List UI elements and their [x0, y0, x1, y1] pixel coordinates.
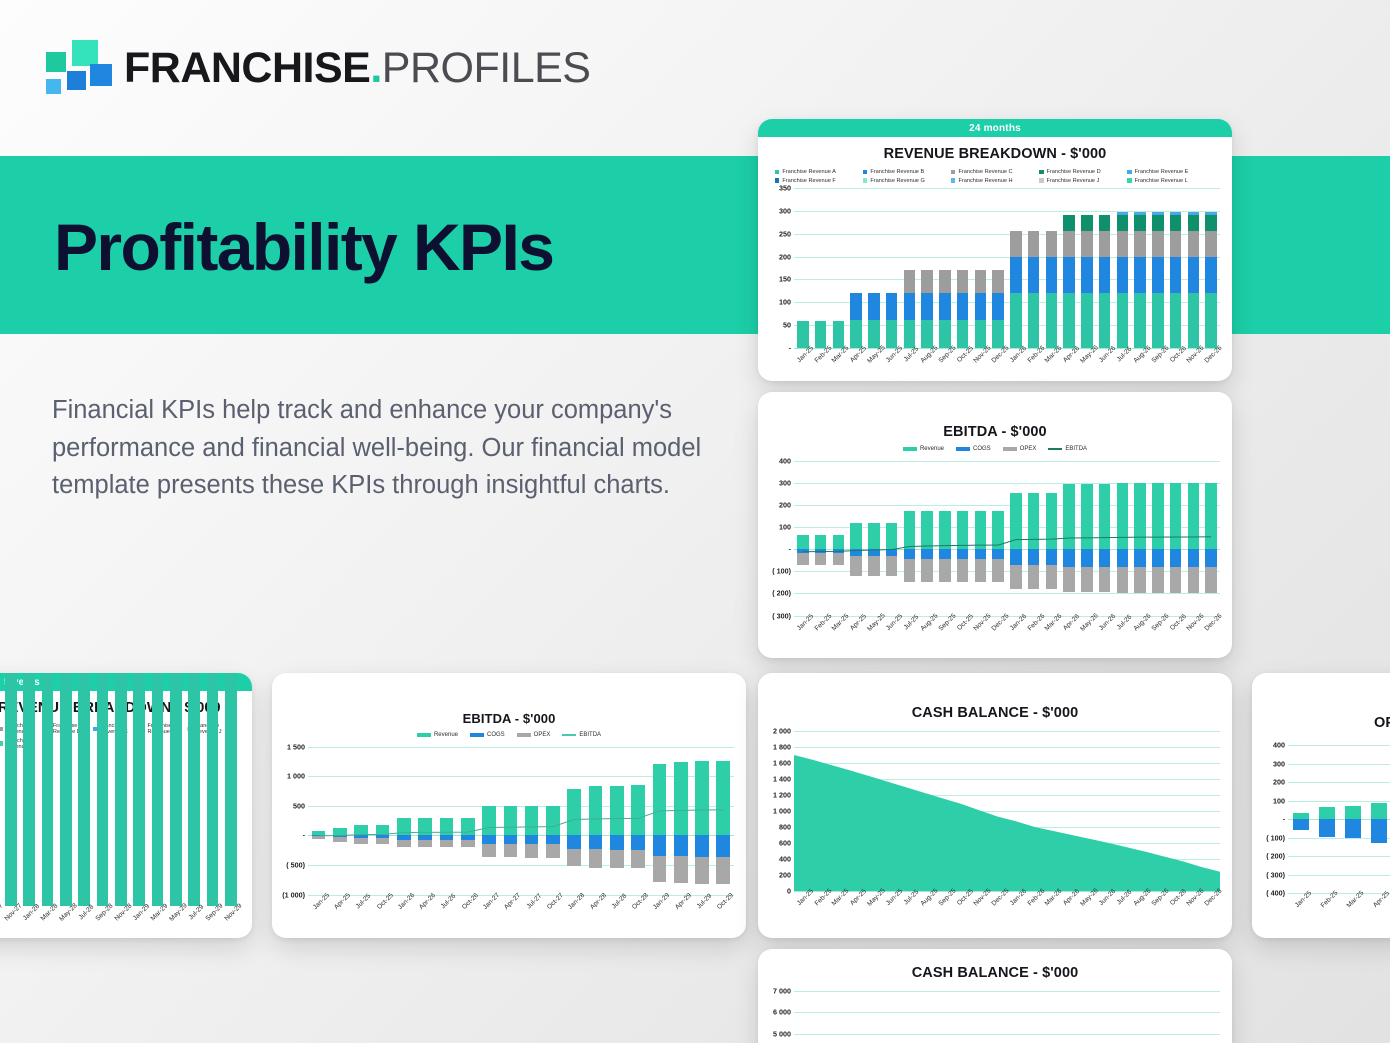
bar-segment — [1345, 806, 1362, 819]
x-axis-slot: May-28 — [57, 908, 75, 938]
logo-square-teal — [72, 40, 98, 66]
plot-grid — [794, 188, 1220, 348]
y-axis-tick: ( 200) — [772, 589, 791, 598]
bar-segment — [1134, 293, 1145, 348]
legend-swatch — [1039, 178, 1044, 183]
legend-swatch — [1127, 170, 1132, 175]
cash-area — [794, 731, 1220, 891]
bar-series — [794, 188, 1220, 348]
bar-stack-positive — [1345, 806, 1362, 819]
intro-paragraph: Financial KPIs help track and enhance yo… — [52, 392, 712, 505]
y-axis-tick: 600 — [779, 839, 791, 848]
x-axis-slot: Nov-25 — [972, 350, 990, 381]
bar-segment — [1188, 231, 1199, 256]
x-axis-slot: Jun-25 — [883, 618, 901, 652]
bar-segment — [1152, 293, 1163, 348]
y-axis: 2 0001 8001 6001 4001 2001 0008006004002… — [764, 731, 794, 891]
legend-swatch — [562, 734, 576, 736]
y-axis-tick: 800 — [779, 823, 791, 832]
bar-segment — [1188, 215, 1199, 231]
bar-segment — [1170, 293, 1181, 348]
legend-label: Franchise Revenue H — [958, 178, 1012, 184]
ebitda-line — [308, 747, 734, 895]
bar-stack-negative — [1293, 819, 1310, 830]
legend-item: EBITDA — [562, 732, 601, 738]
x-axis-slot: Jul-25 — [901, 350, 919, 381]
x-axis-slot: Jun-26 — [1096, 618, 1114, 652]
bar-group — [865, 188, 883, 348]
y-axis-tick: 350 — [779, 184, 791, 193]
bar-segment — [921, 270, 932, 293]
x-axis-slot: Oct-26 — [1167, 893, 1185, 927]
legend-label: Revenue — [434, 732, 458, 738]
x-axis-slot: Apr-27 — [500, 897, 521, 931]
bar-segment — [975, 320, 986, 348]
bar-group — [1366, 745, 1390, 893]
x-axis-slot: Jan-25 — [1288, 895, 1314, 929]
bar-stack-positive — [115, 673, 127, 906]
legend-swatch — [1127, 178, 1132, 183]
chart-title: OPE — [1374, 715, 1390, 731]
legend-item: EBITDA — [1048, 446, 1087, 452]
bar-segment — [1081, 231, 1092, 256]
x-axis-slot: Jan-25 — [794, 618, 812, 652]
x-axis-slot: Apr-25 — [847, 618, 865, 652]
bar-stack-positive — [850, 293, 861, 348]
legend-item: Franchise Revenue H — [951, 178, 1039, 184]
x-axis-slot: Jul-27 — [521, 897, 542, 931]
x-axis-slot: Dec-25 — [989, 893, 1007, 927]
x-axis-slot: Dec-25 — [989, 618, 1007, 652]
bar-group — [222, 756, 240, 906]
bar-segment — [1319, 807, 1336, 819]
y-axis-tick: 200 — [779, 252, 791, 261]
bar-segment — [170, 673, 182, 906]
bar-stack-positive — [1371, 803, 1388, 819]
chart-plot-area: 2 0001 8001 6001 4001 2001 0008006004002… — [764, 731, 1226, 891]
chart-card-revenue-5y[interactable]: 5 years REVENUE BREAKDOWN - $'000 Franch… — [0, 673, 252, 938]
legend-swatch — [863, 170, 868, 175]
bar-group — [20, 756, 38, 906]
bar-group — [167, 756, 185, 906]
x-axis-slot: Apr-29 — [670, 897, 691, 931]
y-axis-tick: ( 100) — [772, 567, 791, 576]
x-axis-slot: Mar-25 — [1340, 895, 1366, 929]
legend-label: Franchise Revenue E — [1135, 169, 1189, 175]
y-axis-tick: ( 300) — [772, 611, 791, 620]
bar-segment — [1319, 819, 1336, 837]
bar-group — [1202, 188, 1220, 348]
bar-stack-positive — [1319, 807, 1336, 819]
bar-stack-positive — [133, 673, 145, 906]
y-axis-tick: ( 400) — [1266, 889, 1285, 898]
chart-plot-area: Jan-27Mar-27May-27Jul-27Sep-27Nov-27Jan-… — [0, 756, 246, 906]
legend-label: Franchise Revenue B — [870, 169, 924, 175]
x-axis-slot: Apr-26 — [1060, 350, 1078, 381]
bar-stack-positive — [60, 673, 72, 906]
y-axis-tick: 2 000 — [773, 727, 791, 736]
bar-segment — [1081, 257, 1092, 294]
y-axis-tick: 300 — [1273, 759, 1285, 768]
bar-segment — [1081, 293, 1092, 348]
bar-stack-positive — [833, 321, 844, 348]
bar-segment — [1371, 803, 1388, 819]
bar-group — [1025, 188, 1043, 348]
bar-segment — [5, 673, 17, 906]
x-axis-slot: May-25 — [865, 618, 883, 652]
bar-stack-positive — [815, 321, 826, 348]
bar-segment — [975, 293, 986, 320]
y-axis-tick: 250 — [779, 229, 791, 238]
chart-card-ebitda-24m[interactable]: EBITDA - $'000 RevenueCOGSOPEXEBITDA 400… — [758, 392, 1232, 658]
x-axis-slot: Mar-29 — [148, 908, 166, 938]
x-axis-slot: Jul-26 — [436, 897, 457, 931]
bar-group — [130, 756, 148, 906]
bar-segment — [868, 293, 879, 320]
x-axis: Jan-25Feb-25Mar-25Apr-25May-25Jun-25Jul-… — [1288, 895, 1390, 929]
x-axis-slot: Aug-26 — [1131, 618, 1149, 652]
bar-stack-positive — [170, 673, 182, 906]
bar-segment — [957, 293, 968, 320]
bar-group — [203, 756, 221, 906]
legend-swatch — [1039, 170, 1044, 175]
x-axis-slot: Jul-29 — [691, 897, 712, 931]
x-axis-slot: Nov-27 — [2, 908, 20, 938]
chart-legend: RevenueCOGSOPEXEBITDA — [758, 446, 1232, 455]
plot-grid — [308, 747, 734, 895]
plot-grid — [0, 756, 240, 906]
plot-grid — [794, 731, 1220, 891]
x-axis-slot: Feb-26 — [1025, 618, 1043, 652]
bar-group — [1060, 188, 1078, 348]
bar-group — [93, 756, 111, 906]
x-axis-slot: Apr-26 — [1060, 618, 1078, 652]
bar-segment — [1099, 231, 1110, 256]
bar-stack-negative — [1345, 819, 1362, 838]
bar-stack-positive — [1028, 231, 1039, 348]
bar-stack-positive — [904, 270, 915, 348]
bar-group — [830, 188, 848, 348]
bar-series — [1288, 745, 1390, 893]
bar-stack-positive — [975, 270, 986, 348]
bar-segment — [1117, 231, 1128, 256]
x-axis-slot: Oct-26 — [1167, 350, 1185, 381]
bar-segment — [23, 673, 35, 906]
logo-square-blue-small — [67, 71, 86, 90]
x-axis-slot: Jul-25 — [901, 618, 919, 652]
x-axis: Jan-25Feb-25Mar-25Apr-25May-25Jun-25Jul-… — [794, 618, 1220, 652]
bar-stack-positive — [78, 673, 90, 906]
bar-group — [1340, 745, 1366, 893]
y-axis-tick: 200 — [1273, 778, 1285, 787]
x-axis-slot: Oct-29 — [713, 897, 734, 931]
logo-text-profiles: PROFILES — [382, 44, 591, 92]
x-axis-slot: Sep-26 — [1149, 350, 1167, 381]
x-axis-slot: Aug-25 — [918, 350, 936, 381]
legend-label: COGS — [487, 732, 505, 738]
y-axis-tick: 200 — [779, 871, 791, 880]
bar-group — [2, 756, 20, 906]
x-axis-slot: Jun-26 — [1096, 350, 1114, 381]
x-axis-slot: Nov-28 — [112, 908, 130, 938]
y-axis-tick: 500 — [293, 801, 305, 810]
legend-label: EBITDA — [579, 732, 601, 738]
x-axis-slot: Aug-25 — [918, 893, 936, 927]
bar-group — [989, 188, 1007, 348]
y-axis-tick: - — [789, 344, 791, 353]
legend-swatch — [517, 733, 531, 737]
bar-segment — [115, 673, 127, 906]
bar-segment — [1205, 257, 1216, 294]
chart-card-cash-5y[interactable]: CASH BALANCE - $'000 7 0006 0005 000 — [758, 949, 1232, 1043]
x-axis-slot: Aug-25 — [918, 618, 936, 652]
bar-group — [1131, 188, 1149, 348]
bar-segment — [78, 673, 90, 906]
bar-segment — [957, 270, 968, 293]
x-axis-slot: May-25 — [865, 350, 883, 381]
legend-label: Revenue — [920, 446, 944, 452]
bar-segment — [868, 320, 879, 348]
x-axis-slot: Oct-25 — [954, 350, 972, 381]
bar-segment — [1010, 293, 1021, 348]
bar-segment — [1010, 257, 1021, 294]
x-axis-slot: Feb-25 — [812, 350, 830, 381]
x-axis-slot: Apr-28 — [585, 897, 606, 931]
x-axis-slot: Sep-25 — [936, 618, 954, 652]
bar-group — [1149, 188, 1167, 348]
x-axis-slot: Apr-26 — [1060, 893, 1078, 927]
x-axis-slot: Jul-26 — [1114, 618, 1132, 652]
chart-title: EBITDA - $'000 — [758, 424, 1232, 440]
x-axis-slot: Jul-25 — [901, 893, 919, 927]
x-axis-slot: Apr-25 — [329, 897, 350, 931]
x-axis-slot: May-25 — [865, 893, 883, 927]
bar-group — [112, 756, 130, 906]
bar-segment — [133, 673, 145, 906]
bar-group — [1167, 188, 1185, 348]
x-axis-slot: May-26 — [1078, 893, 1096, 927]
x-axis-slot: Mar-25 — [830, 893, 848, 927]
x-axis-slot: Jan-28 — [20, 908, 38, 938]
x-axis-slot: Jan-26 — [1007, 618, 1025, 652]
legend-label: Franchise Revenue J — [1047, 178, 1100, 184]
x-axis-slot: Dec-26 — [1202, 618, 1220, 652]
y-axis-tick: 1 200 — [773, 791, 791, 800]
y-axis-tick: 1 000 — [773, 807, 791, 816]
bar-segment — [1063, 257, 1074, 294]
x-axis-slot: Mar-25 — [830, 350, 848, 381]
logo-square-lightblue — [46, 79, 61, 94]
plot-grid — [1288, 745, 1390, 893]
bar-stack-positive — [152, 673, 164, 906]
y-axis-tick: - — [303, 831, 305, 840]
bar-segment — [904, 320, 915, 348]
y-axis-tick: - — [789, 545, 791, 554]
legend-swatch — [470, 733, 484, 737]
bar-stack-positive — [939, 270, 950, 348]
x-axis: Jan-25Feb-25Mar-25Apr-25May-25Jun-25Jul-… — [794, 893, 1220, 927]
x-axis-slot: Oct-26 — [1167, 618, 1185, 652]
x-axis-slot: Jul-29 — [185, 908, 203, 938]
plot-grid — [794, 461, 1220, 616]
bar-segment — [1028, 293, 1039, 348]
x-axis-slot: Jan-26 — [1007, 893, 1025, 927]
y-axis: 400300200100-( 100)( 200)( 300) — [764, 461, 794, 616]
y-axis: 35030025020015010050- — [764, 188, 794, 348]
bar-segment — [1205, 215, 1216, 231]
chart-card-opex[interactable]: OPE 400300200100-( 100)( 200)( 300)( 400… — [1252, 673, 1390, 938]
y-axis-tick: 300 — [779, 478, 791, 487]
x-axis-slot: Oct-25 — [954, 618, 972, 652]
y-axis-tick: 100 — [1273, 796, 1285, 805]
bar-segment — [1152, 231, 1163, 256]
bar-stack-positive — [1205, 212, 1216, 348]
legend-item: Franchise Revenue E — [1127, 169, 1215, 175]
bar-stack-positive — [207, 673, 219, 906]
bar-group — [883, 188, 901, 348]
bar-segment — [992, 293, 1003, 320]
bar-segment — [1134, 215, 1145, 231]
bar-segment — [42, 673, 54, 906]
legend-swatch — [903, 447, 917, 451]
bar-group — [1288, 745, 1314, 893]
x-axis-slot: Jan-25 — [794, 350, 812, 381]
bar-stack-positive — [1046, 231, 1057, 348]
y-axis-tick: 0 — [787, 887, 791, 896]
x-axis-slot: Jan-26 — [1007, 350, 1025, 381]
x-axis-slot: Apr-26 — [414, 897, 435, 931]
chart-card-cash-24m[interactable]: CASH BALANCE - $'000 2 0001 8001 6001 40… — [758, 673, 1232, 938]
x-axis-slot: May-26 — [1078, 618, 1096, 652]
x-axis-slot: Sep-25 — [936, 350, 954, 381]
bar-stack-positive — [23, 673, 35, 906]
x-axis-slot: Mar-26 — [1043, 618, 1061, 652]
brand-logo: FRANCHISE.PROFILES — [46, 40, 590, 96]
bar-segment — [1345, 819, 1362, 838]
bar-segment — [1099, 215, 1110, 231]
bar-stack-positive — [1188, 212, 1199, 348]
x-axis-slot: Nov-25 — [972, 618, 990, 652]
bar-stack-positive — [1081, 215, 1092, 348]
y-axis-tick: ( 300) — [1266, 870, 1285, 879]
y-axis-tick: 7 000 — [773, 987, 791, 996]
logo-square-blue — [90, 64, 112, 86]
x-axis-slot: Jul-25 — [351, 897, 372, 931]
chart-plot-area: 1 5001 000500-( 500)(1 000)Jan-25Apr-25J… — [278, 747, 740, 895]
chart-card-revenue-24m[interactable]: 24 months REVENUE BREAKDOWN - $'000 Fran… — [758, 119, 1232, 381]
legend-item: OPEX — [517, 732, 551, 738]
legend-item: Franchise Revenue G — [863, 178, 951, 184]
x-axis-slot: Jan-29 — [649, 897, 670, 931]
bar-group — [1078, 188, 1096, 348]
y-axis-tick: 1 500 — [287, 742, 305, 751]
x-axis-slot: Mar-28 — [38, 908, 56, 938]
bar-segment — [992, 270, 1003, 293]
bar-segment — [1170, 231, 1181, 256]
legend-item: Franchise Revenue L — [1127, 178, 1215, 184]
x-axis-slot: Dec-26 — [1202, 350, 1220, 381]
x-axis-slot: Nov-26 — [1185, 618, 1203, 652]
bar-segment — [815, 321, 826, 348]
x-axis-slot: Jan-29 — [130, 908, 148, 938]
bar-group — [918, 188, 936, 348]
x-axis-slot: Feb-26 — [1025, 350, 1043, 381]
legend-item: Revenue — [417, 732, 458, 738]
legend-label: OPEX — [534, 732, 551, 738]
bar-segment — [1170, 215, 1181, 231]
logo-text-franchise: FRANCHISE — [124, 44, 370, 92]
bar-stack-positive — [1099, 215, 1110, 348]
bar-segment — [60, 673, 72, 906]
bar-stack-positive — [1152, 212, 1163, 348]
x-axis-slot: Jun-25 — [883, 350, 901, 381]
x-axis-slot: Jul-28 — [606, 897, 627, 931]
legend-item: OPEX — [1003, 446, 1037, 452]
logo-text-dot: . — [370, 44, 381, 92]
x-axis-slot: Jul-26 — [1114, 350, 1132, 381]
chart-card-ebitda-5y[interactable]: EBITDA - $'000 RevenueCOGSOPEXEBITDA 1 5… — [272, 673, 746, 938]
bar-stack-positive — [42, 673, 54, 906]
bar-stack-positive — [1117, 212, 1128, 348]
x-axis-slot: Apr-25 — [1366, 895, 1390, 929]
legend-item: Revenue — [903, 446, 944, 452]
legend-item: Franchise Revenue J — [1039, 178, 1127, 184]
bar-segment — [850, 293, 861, 320]
x-axis-slot: Nov-29 — [222, 908, 240, 938]
legend-swatch — [0, 727, 3, 732]
x-axis-slot: Sep-26 — [1149, 618, 1167, 652]
gridline — [794, 1012, 1220, 1013]
bar-group — [75, 756, 93, 906]
bar-stack-positive — [1010, 231, 1021, 348]
legend-item: COGS — [470, 732, 505, 738]
y-axis-tick: 1 800 — [773, 743, 791, 752]
legend-swatch — [863, 178, 868, 183]
bar-segment — [1152, 257, 1163, 294]
bar-segment — [957, 320, 968, 348]
bar-segment — [97, 673, 109, 906]
logo-wordmark: FRANCHISE.PROFILES — [124, 47, 590, 90]
legend-label: OPEX — [1020, 446, 1037, 452]
x-axis-slot: Nov-26 — [1185, 350, 1203, 381]
bar-group — [38, 756, 56, 906]
x-axis-slot: Sep-26 — [1149, 893, 1167, 927]
y-axis-tick: 400 — [779, 456, 791, 465]
ebitda-line — [794, 461, 1220, 616]
x-axis-slot: May-29 — [167, 908, 185, 938]
x-axis-slot: Jan-25 — [794, 893, 812, 927]
x-axis: Jan-27Mar-27May-27Jul-27Sep-27Nov-27Jan-… — [0, 908, 240, 938]
y-axis-tick: 1 600 — [773, 759, 791, 768]
bar-segment — [1063, 215, 1074, 231]
plot-grid — [794, 991, 1220, 1043]
bar-segment — [904, 270, 915, 293]
bar-group — [1043, 188, 1061, 348]
gridline — [794, 1034, 1220, 1035]
bar-segment — [225, 673, 237, 906]
chart-legend: Franchise Revenue AFranchise Revenue BFr… — [758, 169, 1232, 186]
x-axis-slot: Dec-26 — [1202, 893, 1220, 927]
bar-segment — [1205, 231, 1216, 256]
y-axis-tick: 100 — [779, 298, 791, 307]
bar-segment — [833, 321, 844, 348]
legend-label: Franchise Revenue D — [1047, 169, 1101, 175]
bar-stack-positive — [1134, 212, 1145, 348]
chart-title: REVENUE BREAKDOWN - $'000 — [758, 146, 1232, 162]
y-axis-tick: 300 — [779, 206, 791, 215]
bar-series — [0, 756, 240, 906]
bar-stack-positive — [1063, 215, 1074, 348]
